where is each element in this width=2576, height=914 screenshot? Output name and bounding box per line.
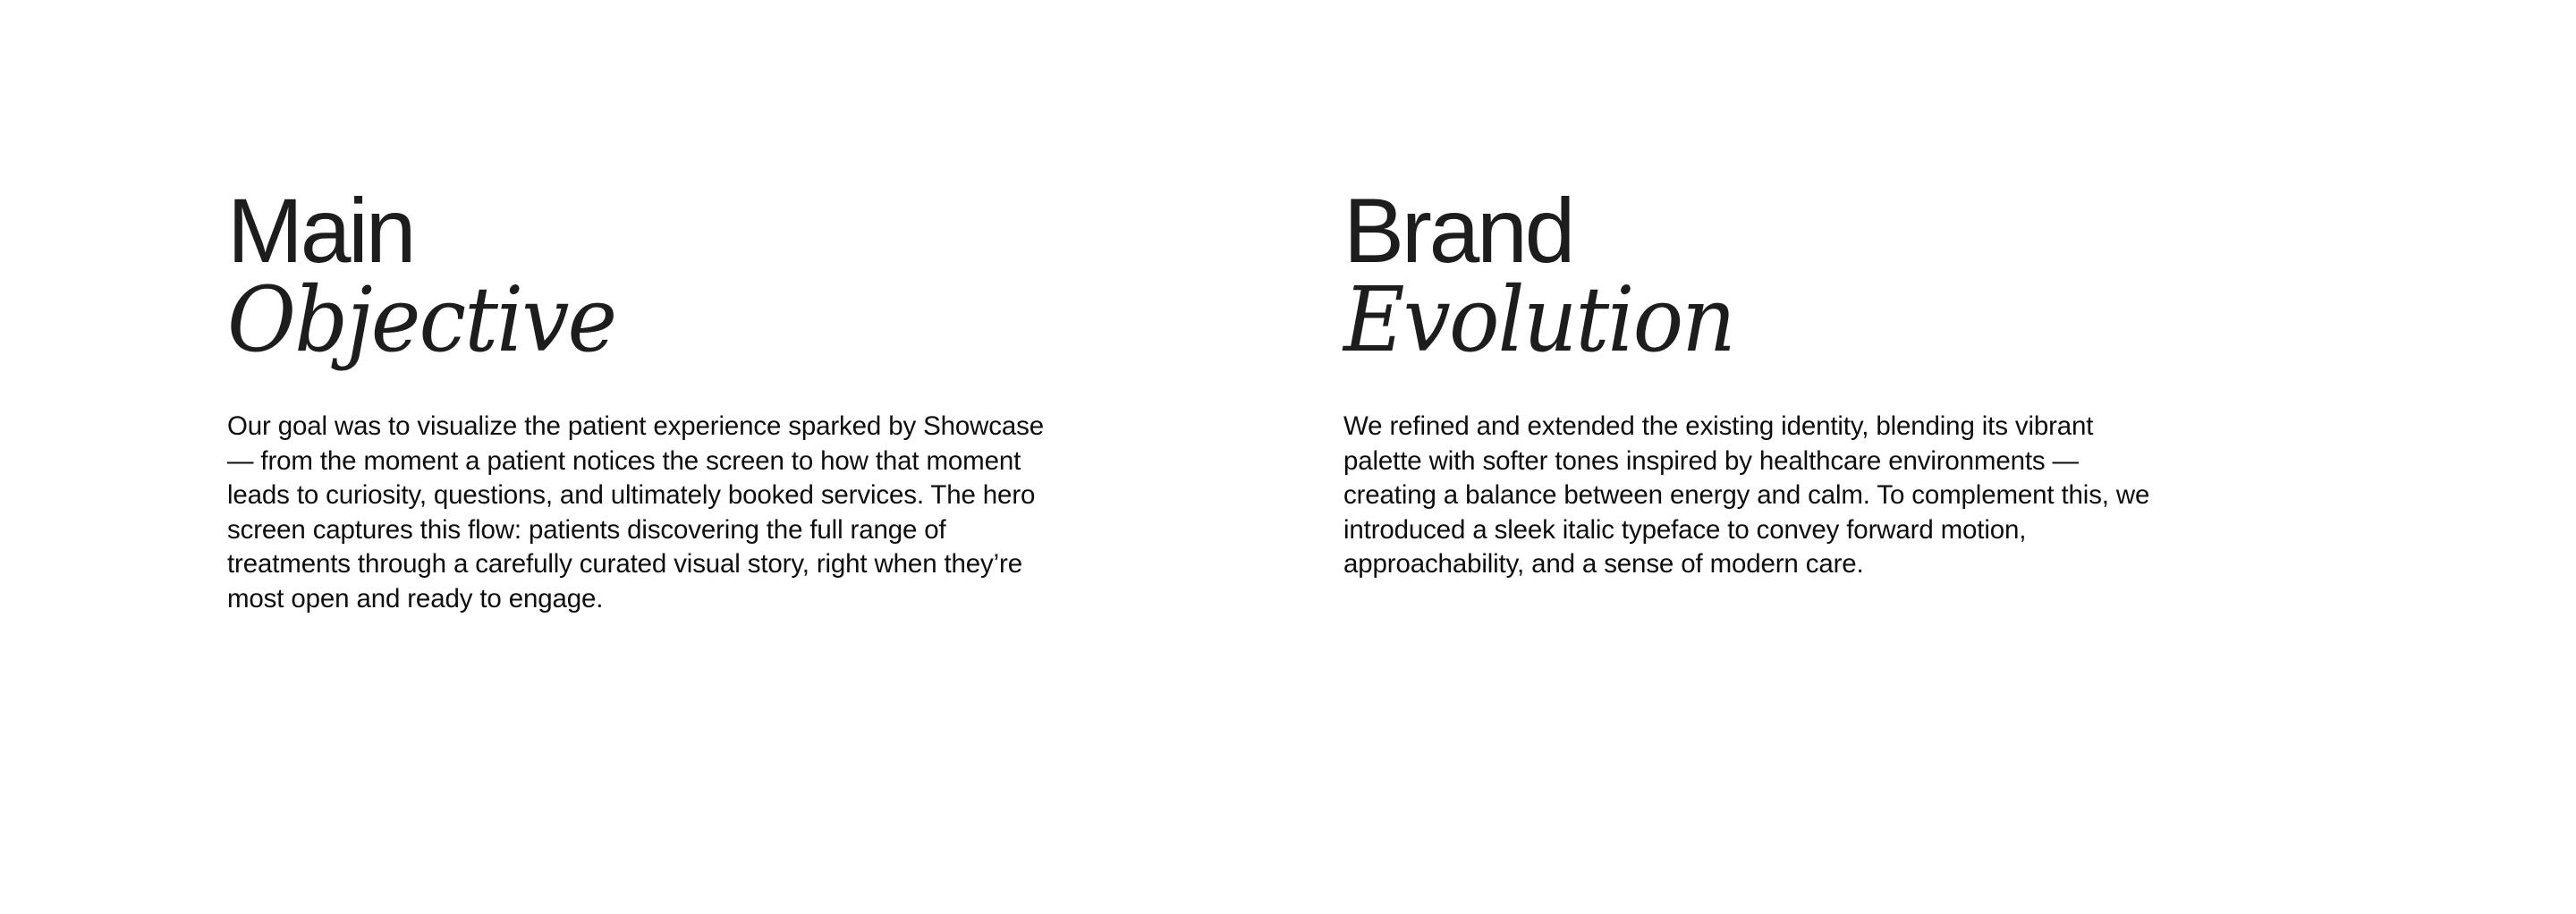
section-main-objective: Main Objective Our goal was to visualize… — [227, 188, 1086, 617]
main-objective-heading: Main Objective — [227, 188, 640, 367]
brand-evolution-heading-line-1: Brand — [1343, 188, 1759, 274]
main-objective-paragraph: Our goal was to visualize the patient ex… — [227, 410, 1046, 617]
section-brand-evolution: Brand Evolution We refined and extended … — [1343, 188, 2220, 582]
main-objective-heading-line-1: Main — [227, 188, 640, 274]
main-objective-heading-line-2: Objective — [227, 274, 615, 367]
brand-evolution-paragraph: We refined and extended the existing ide… — [1343, 410, 2175, 582]
two-column-layout: Main Objective Our goal was to visualize… — [0, 0, 2576, 914]
brand-evolution-heading-line-2: Evolution — [1343, 274, 1734, 367]
brand-evolution-heading: Brand Evolution — [1343, 188, 1759, 367]
page-root: Main Objective Our goal was to visualize… — [0, 0, 2576, 914]
